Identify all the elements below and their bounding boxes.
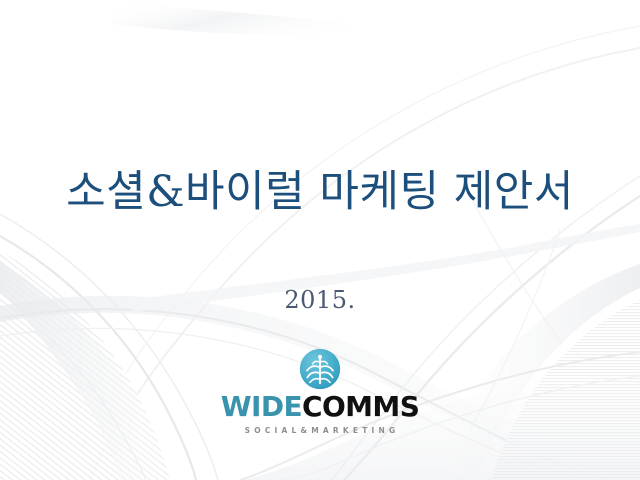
title-slide: 소셜&바이럴 마케팅 제안서 2015. [0, 0, 640, 480]
logo-tagline: SOCIAL&MARKETING [0, 426, 640, 435]
title-area: 소셜&바이럴 마케팅 제안서 [0, 168, 640, 216]
page-title: 소셜&바이럴 마케팅 제안서 [0, 168, 640, 216]
slide-subtitle-year: 2015. [0, 286, 640, 314]
logo-word-wide: WIDE [221, 390, 302, 423]
subtitle-area: 2015. [0, 286, 640, 314]
widecomms-tree-circle-icon [299, 348, 341, 390]
logo-wordmark: WIDECOMMS [0, 393, 640, 421]
logo-word-comms: COMMS [302, 390, 419, 423]
company-logo: WIDECOMMS SOCIAL&MARKETING [0, 348, 640, 435]
